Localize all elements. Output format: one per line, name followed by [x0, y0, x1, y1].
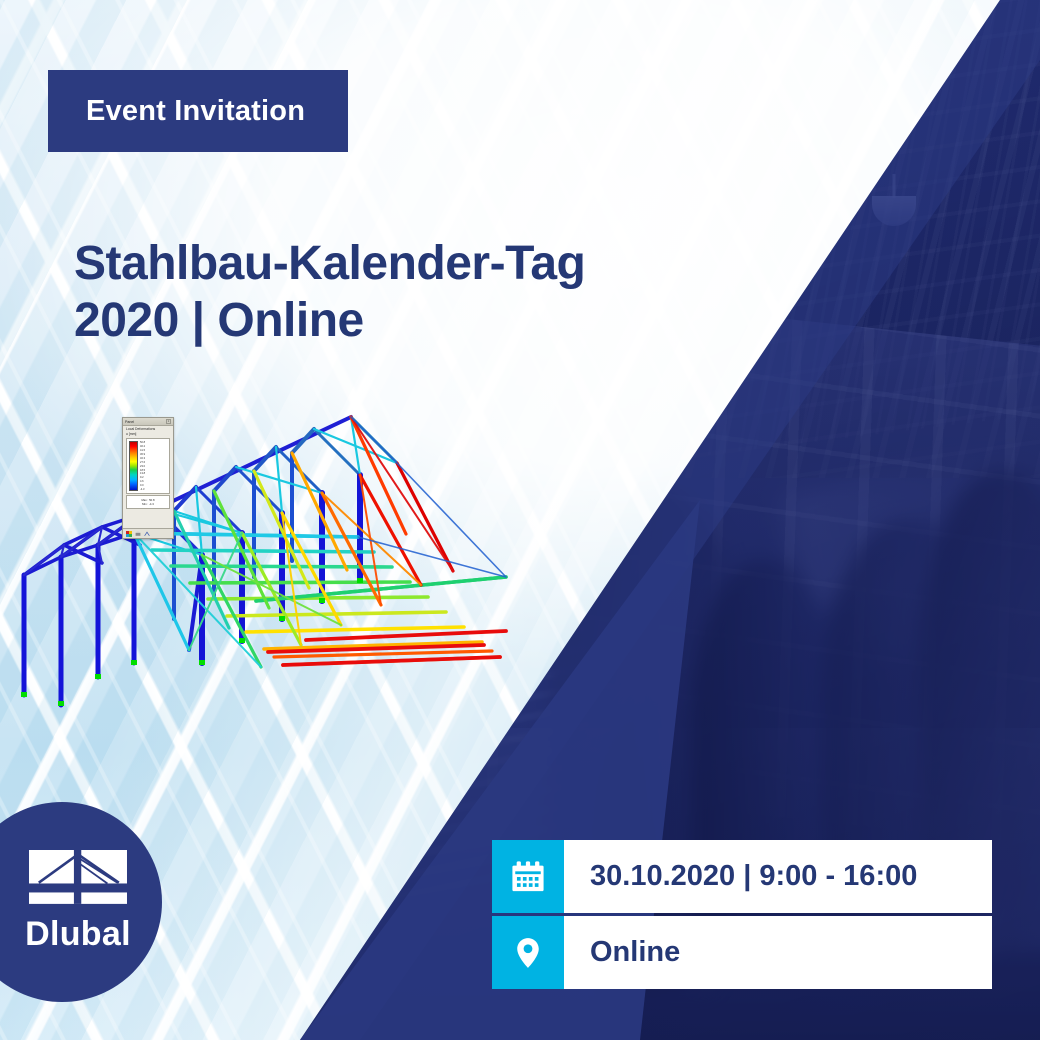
title-line-1: Stahlbau-Kalender-Tag: [74, 237, 585, 290]
tick-label: 36.9: [140, 453, 167, 456]
tick-label: 0.0: [140, 484, 167, 487]
rfem-result-panel[interactable]: Panel × Local Deformations u [mm] 50.8 4…: [122, 417, 174, 539]
event-location-text: Online: [564, 916, 992, 989]
panel-result-label: Local Deformations u [mm]: [123, 426, 173, 437]
color-scale-bar: [129, 441, 138, 491]
calendar-icon-box: [492, 840, 564, 913]
page-title: Stahlbau-Kalender-Tag 2020 | Online: [74, 236, 674, 349]
panel-minmax-box: Max : 50.8 Min : -4.3: [126, 495, 170, 509]
calendar-icon: [511, 860, 545, 894]
dlubal-logo-text: Dlubal: [25, 915, 131, 954]
tick-label: 50.8: [140, 441, 167, 444]
dlubal-bridge-mark: [29, 850, 127, 910]
deform-icon[interactable]: [144, 531, 150, 537]
panel-titlebar: Panel ×: [123, 418, 173, 426]
event-invitation-badge: Event Invitation: [48, 70, 348, 152]
color-scale-ticks: 50.8 46.2 41.5 36.9 32.3 27.6 23.0 18.5 …: [138, 441, 167, 491]
event-location-row: Online: [492, 916, 992, 989]
tick-label: 9.2: [140, 476, 167, 479]
color-swatch-icon[interactable]: [126, 531, 132, 537]
location-pin-icon: [511, 936, 545, 970]
location-icon-box: [492, 916, 564, 989]
tick-label: 27.6: [140, 461, 167, 464]
close-icon[interactable]: ×: [166, 419, 171, 424]
tick-label: 41.5: [140, 449, 167, 452]
panel-min-label: Min : -4.3: [142, 502, 154, 506]
tick-label: -4.3: [140, 488, 167, 491]
badge-label: Event Invitation: [48, 95, 305, 128]
tick-label: 13.8: [140, 472, 167, 475]
panel-colorbar-area: 50.8 46.2 41.5 36.9 32.3 27.6 23.0 18.5 …: [126, 438, 170, 494]
event-details: 30.10.2020 | 9:00 - 16:00 Online: [492, 840, 992, 989]
event-invitation-poster: Panel × Local Deformations u [mm] 50.8 4…: [0, 0, 1040, 1040]
panel-quantity: u [mm]: [126, 432, 170, 437]
event-date-text: 30.10.2020 | 9:00 - 16:00: [564, 840, 992, 913]
event-date-row: 30.10.2020 | 9:00 - 16:00: [492, 840, 992, 913]
print-icon[interactable]: [135, 531, 141, 537]
tick-label: 32.3: [140, 457, 167, 460]
tick-label: 46.2: [140, 445, 167, 448]
rfem-structural-model: [6, 405, 536, 705]
panel-title: Panel: [125, 420, 134, 424]
panel-toolbar[interactable]: [123, 528, 173, 538]
tick-label: 4.6: [140, 480, 167, 483]
title-line-2: 2020 | Online: [74, 293, 674, 350]
tick-label: 23.0: [140, 465, 167, 468]
